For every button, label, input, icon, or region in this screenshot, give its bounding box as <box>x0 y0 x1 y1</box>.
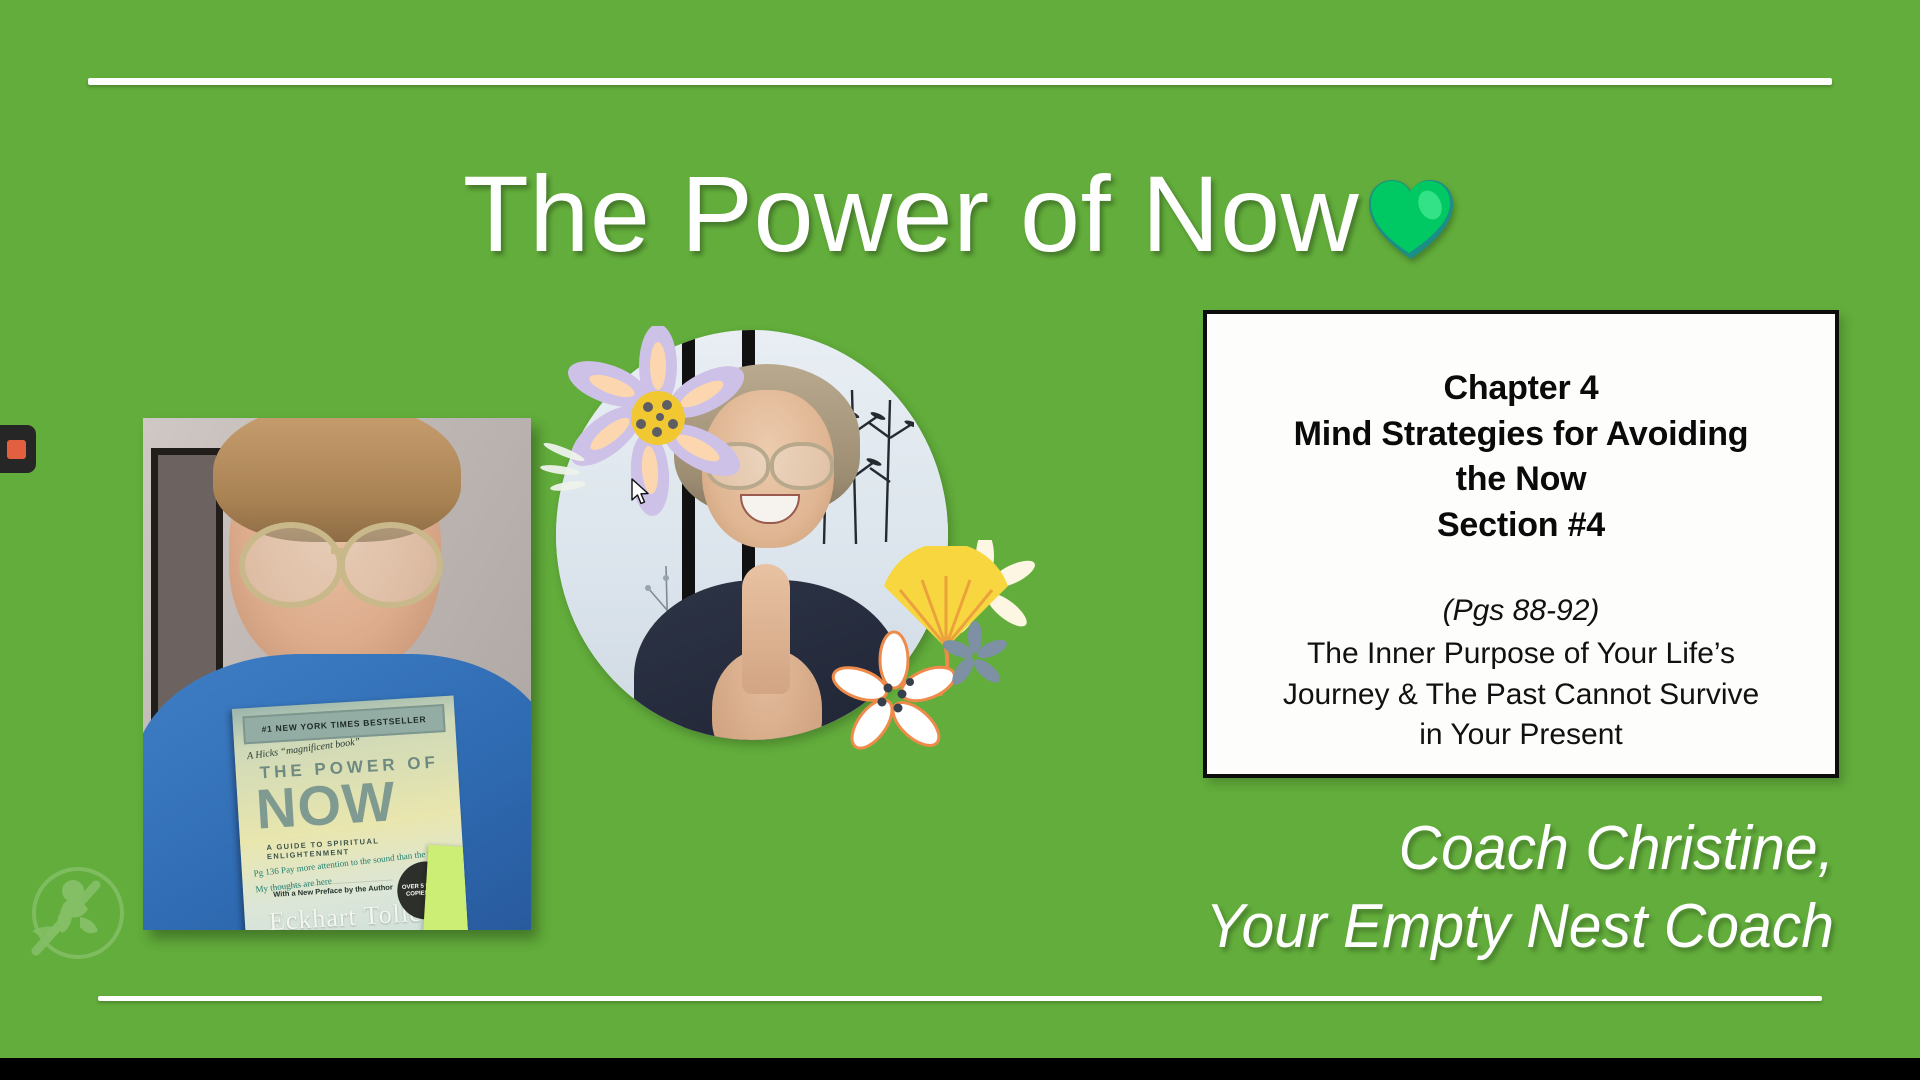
mouse-pointer-icon <box>630 478 650 506</box>
page-title: The Power of Now <box>463 160 1359 268</box>
top-divider-line <box>88 78 1832 85</box>
section-subtitle: The Inner Purpose of Your Life’s Journey… <box>1283 634 1759 756</box>
book-photo: #1 NEW YORK TIMES BESTSELLER A Hicks “ma… <box>143 418 531 930</box>
bottom-divider-line <box>98 996 1822 1001</box>
chapter-heading: Chapter 4 Mind Strategies for Avoiding t… <box>1294 366 1749 548</box>
record-stop-icon <box>7 440 26 459</box>
stop-recording-button[interactable] <box>0 425 36 473</box>
book-sticky-tab <box>423 845 468 930</box>
presenter-signature: Coach Christine, Your Empty Nest Coach <box>960 810 1834 966</box>
slide-title-row: The Power of Now <box>0 160 1920 268</box>
letterbox-bar <box>0 1058 1920 1080</box>
presentation-slide: The Power of Now #1 NEW YORK TIMES BESTS… <box>0 0 1920 1080</box>
book-cover: #1 NEW YORK TIMES BESTSELLER A Hicks “ma… <box>232 695 468 930</box>
signature-line-2: Your Empty Nest Coach <box>960 888 1834 966</box>
page-range: (Pgs 88-92) <box>1443 594 1600 628</box>
book-title-large: NOW <box>254 773 397 837</box>
video-bubble[interactable] <box>556 330 948 740</box>
green-heart-icon <box>1365 175 1457 263</box>
signature-line-1: Coach Christine, <box>960 810 1834 888</box>
flower-bluegray-icon <box>940 620 1010 690</box>
chapter-info-card: Chapter 4 Mind Strategies for Avoiding t… <box>1203 310 1839 778</box>
superhero-logo-watermark <box>18 855 138 975</box>
